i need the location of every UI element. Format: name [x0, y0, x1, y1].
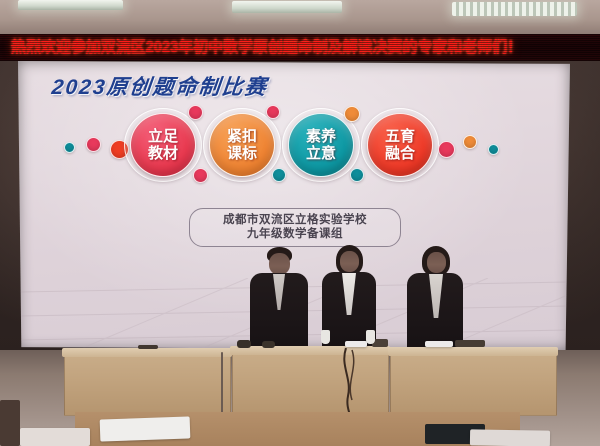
bubble-4: 五育 融合: [367, 113, 433, 177]
ceiling: [0, 0, 600, 36]
presenter-left: [248, 247, 310, 357]
accent-dot-mid-6: [350, 168, 364, 182]
desk-item-laptop: [455, 340, 485, 347]
ceiling-light-1: [18, 0, 123, 10]
foreground-paper-stack: [100, 416, 191, 441]
accent-dot-mid-2: [193, 168, 208, 183]
slide-bubble-row: 立足 教材 紧扣 课标 素养 立意 五育 融合: [18, 104, 570, 184]
led-banner-text: 热烈欢迎参加双流区2023年初中数学原创题命制及解读决赛的专家和老师们！: [11, 36, 591, 59]
foreground-paper-sheet: [20, 428, 90, 446]
slide-footer-label: 成都市双流区立格实验学校 九年级数学备课组: [189, 208, 401, 247]
desk-item-cup-1: [321, 330, 330, 344]
accent-dot-right-2: [463, 135, 477, 149]
bubble-4-line1: 五育: [385, 128, 415, 145]
accent-dot-left-2: [86, 137, 101, 152]
presenter-center-face: [340, 251, 359, 272]
bubble-2-line2: 课标: [227, 145, 257, 162]
slide-title: 2023原创题命制比赛: [50, 71, 269, 101]
bubble-3-line2: 立意: [306, 145, 336, 162]
accent-dot-left-1: [64, 142, 75, 153]
bubble-1-line2: 教材: [148, 145, 178, 162]
foreground-paper-right: [470, 429, 550, 446]
accent-dot-mid-1: [188, 105, 203, 120]
desk-item-glasses: [138, 345, 158, 349]
desk-right-top: [388, 347, 558, 356]
desk-item-microphone-2: [262, 341, 275, 348]
bubble-2: 紧扣 课标: [209, 113, 275, 177]
accent-dot-mid-3: [266, 105, 280, 119]
desk-left: [64, 352, 231, 416]
desk-item-microphone-1: [237, 340, 251, 348]
bubble-1: 立足 教材: [130, 113, 196, 177]
desk-right: [390, 351, 557, 416]
led-banner: 热烈欢迎参加双流区2023年初中数学原创题命制及解读决赛的专家和老师们！: [0, 34, 600, 61]
bubble-3: 素养 立意: [288, 113, 354, 177]
ceiling-light-2: [232, 1, 342, 13]
desk-item-paper-2: [425, 341, 453, 347]
ceiling-light-3: [452, 2, 577, 16]
bubble-2-line1: 紧扣: [227, 128, 257, 145]
bubble-3-line1: 素养: [306, 128, 336, 145]
slide-footer-line-1: 成都市双流区立格实验学校: [190, 213, 400, 227]
desk-left-top: [62, 348, 232, 357]
accent-dot-mid-5: [344, 106, 360, 122]
accent-dot-right-1: [438, 141, 455, 158]
accent-dot-mid-4: [272, 168, 286, 182]
accent-dot-right-3: [488, 144, 499, 155]
presenter-left-face: [269, 253, 290, 275]
overhead-cable: [221, 352, 223, 414]
desk-item-cup-2: [366, 330, 375, 344]
bubble-4-line2: 融合: [385, 145, 415, 162]
foreground-dark-edge: [0, 400, 20, 446]
photo-scene: 热烈欢迎参加双流区2023年初中数学原创题命制及解读决赛的专家和老师们！ 202…: [0, 0, 600, 446]
desk-item-paper-1: [345, 341, 367, 347]
bubble-1-line1: 立足: [148, 128, 178, 145]
presenter-right-face: [427, 252, 446, 273]
slide-footer-line-2: 九年级数学备课组: [190, 227, 400, 241]
